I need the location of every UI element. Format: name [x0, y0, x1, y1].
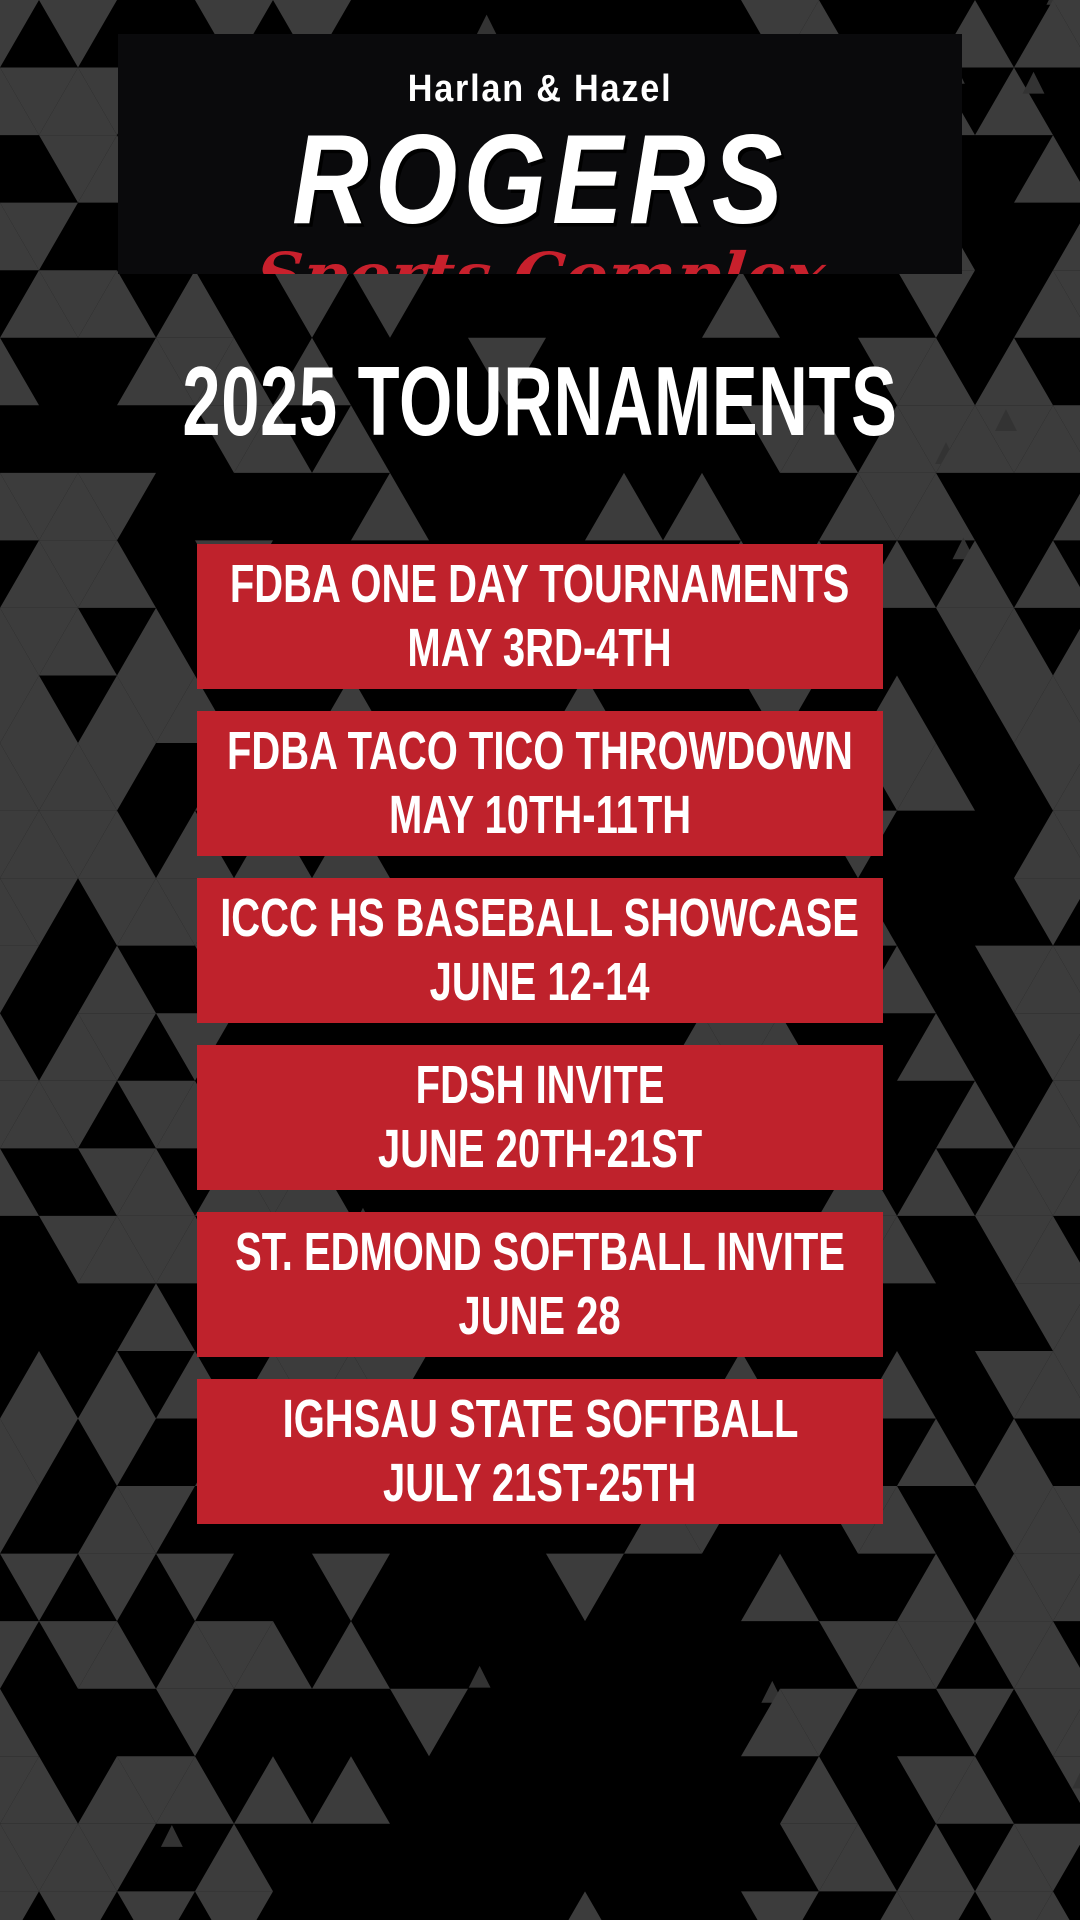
tournament-name: FDBA TACO TICO THROWDOWN — [227, 721, 853, 783]
page-title: 2025 TOURNAMENTS — [162, 352, 918, 450]
tournament-name: IGHSAU STATE SOFTBALL — [282, 1389, 798, 1451]
tournament-banner[interactable]: ST. EDMOND SOFTBALL INVITEJUNE 28 — [197, 1212, 883, 1357]
tournament-name: FDSH INVITE — [416, 1055, 665, 1117]
tournament-banner[interactable]: FDBA ONE DAY TOURNAMENTSMAY 3RD-4TH — [197, 544, 883, 689]
tournament-date: JULY 21ST-25TH — [383, 1453, 696, 1515]
tournament-date: JUNE 12-14 — [430, 952, 650, 1014]
tournament-date: JUNE 28 — [459, 1286, 621, 1348]
brand-logo: Harlan & Hazel ROGERS Sports Complex — [118, 34, 962, 274]
logo-kicker-text: Harlan & Hazel — [408, 70, 673, 108]
logo-wordmark-text: ROGERS — [292, 123, 788, 240]
logo-script-text: Sports Complex — [252, 245, 827, 274]
tournament-date: MAY 3RD-4TH — [408, 618, 672, 680]
tournament-banner[interactable]: FDSH INVITEJUNE 20TH-21ST — [197, 1045, 883, 1190]
tournament-name: FDBA ONE DAY TOURNAMENTS — [230, 554, 849, 616]
tournament-banner[interactable]: ICCC HS BASEBALL SHOWCASEJUNE 12-14 — [197, 878, 883, 1023]
tournament-banner[interactable]: IGHSAU STATE SOFTBALLJULY 21ST-25TH — [197, 1379, 883, 1524]
tournament-date: JUNE 20TH-21ST — [378, 1119, 702, 1181]
tournament-date: MAY 10TH-11TH — [389, 785, 691, 847]
poster-canvas: Harlan & Hazel ROGERS Sports Complex 202… — [0, 0, 1080, 1920]
tournament-banner[interactable]: FDBA TACO TICO THROWDOWNMAY 10TH-11TH — [197, 711, 883, 856]
tournament-list: FDBA ONE DAY TOURNAMENTSMAY 3RD-4THFDBA … — [0, 544, 1080, 1524]
tournament-name: ST. EDMOND SOFTBALL INVITE — [235, 1222, 845, 1284]
tournament-name: ICCC HS BASEBALL SHOWCASE — [221, 888, 860, 950]
